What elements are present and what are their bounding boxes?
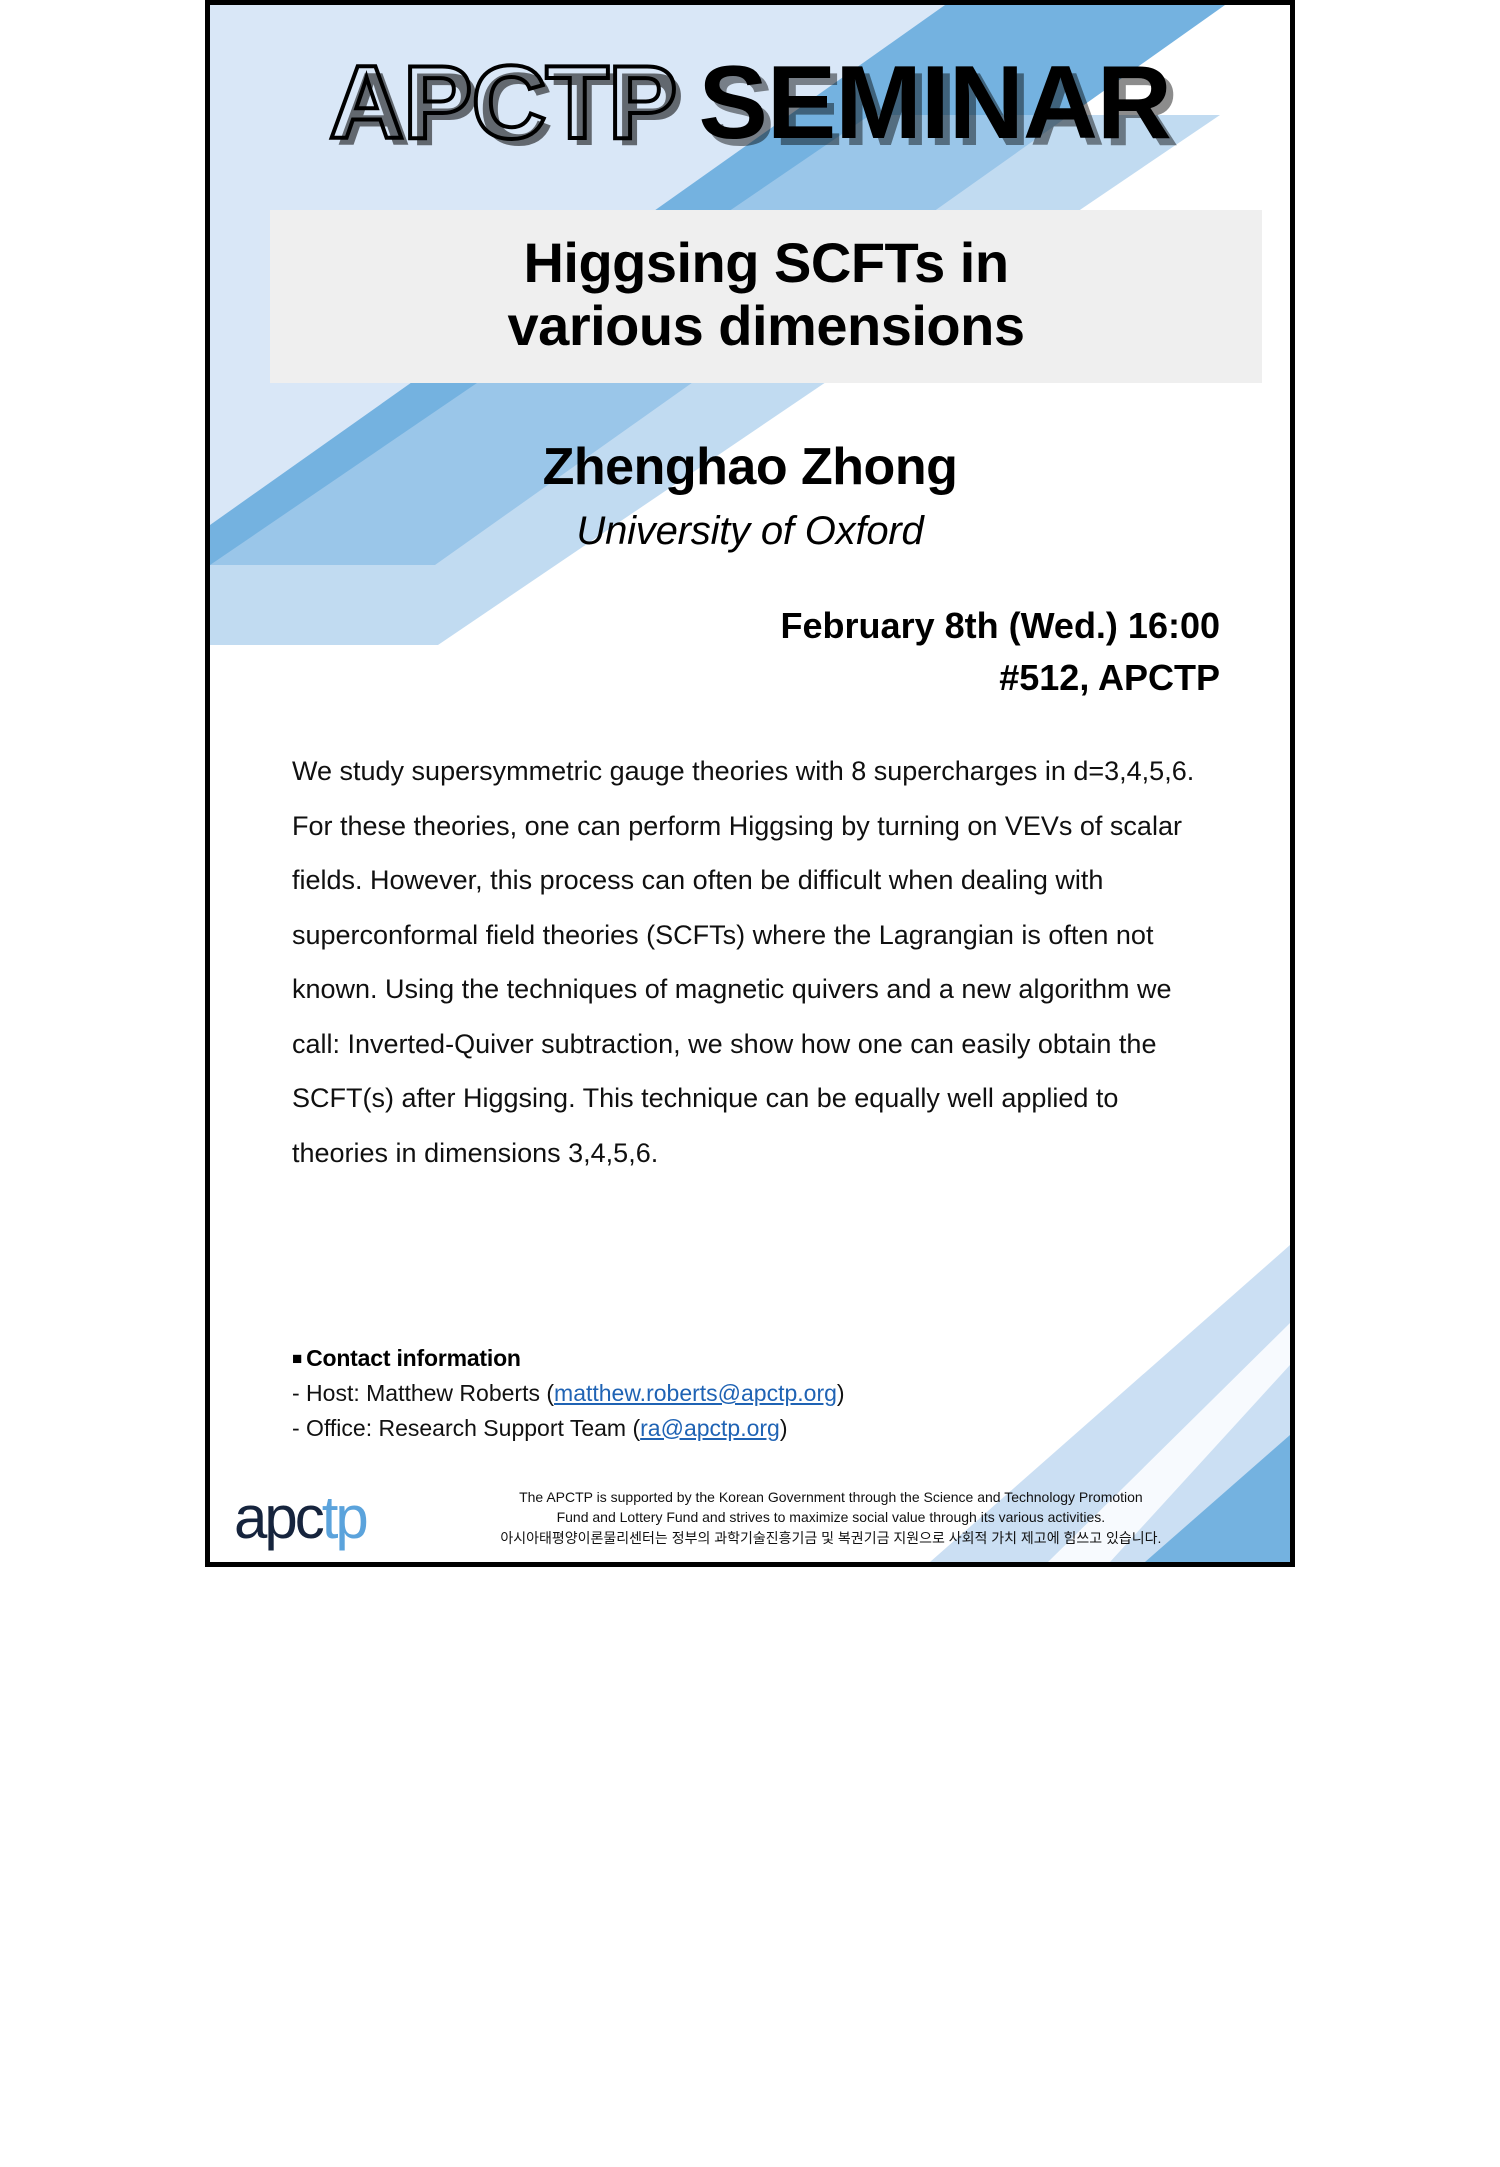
poster-header: APCTP SEMINAR (210, 5, 1290, 155)
contact-host-email-link[interactable]: matthew.roberts@apctp.org (554, 1380, 837, 1406)
speaker-block: Zhenghao Zhong University of Oxford (210, 439, 1290, 553)
event-venue: #512, APCTP (210, 652, 1220, 704)
contact-heading: ■Contact information (292, 1345, 845, 1372)
contact-office-prefix: - Office: Research Support Team ( (292, 1415, 640, 1441)
square-bullet-icon: ■ (292, 1349, 302, 1368)
contact-information: ■Contact information - Host: Matthew Rob… (292, 1345, 845, 1445)
contact-office-email-link[interactable]: ra@apctp.org (640, 1415, 780, 1441)
abstract-text: We study supersymmetric gauge theories w… (292, 744, 1220, 1180)
contact-host-prefix: - Host: Matthew Roberts ( (292, 1380, 554, 1406)
funding-statement-line-3-korean: 아시아태평양이론물리센터는 정부의 과학기술진흥기금 및 복권기금 지원으로 사… (390, 1528, 1272, 1548)
contact-office-suffix: ) (780, 1415, 788, 1441)
contact-host-row: - Host: Matthew Roberts (matthew.roberts… (292, 1376, 845, 1411)
contact-host-suffix: ) (837, 1380, 845, 1406)
apctp-logo: apctp (234, 1488, 366, 1548)
event-details: February 8th (Wed.) 16:00 #512, APCTP (210, 600, 1220, 704)
talk-title-line-2: various dimensions (286, 295, 1246, 358)
brand-apctp: APCTP (329, 51, 676, 155)
poster-footer: apctp The APCTP is supported by the Kore… (210, 1487, 1290, 1548)
brand-seminar: SEMINAR (698, 51, 1171, 155)
funding-statement-line-1: The APCTP is supported by the Korean Gov… (390, 1487, 1272, 1507)
contact-heading-label: Contact information (306, 1345, 521, 1371)
brand-wordmark: APCTP SEMINAR (329, 51, 1171, 155)
event-date-time: February 8th (Wed.) 16:00 (210, 600, 1220, 652)
funding-statement-line-2: Fund and Lottery Fund and strives to max… (390, 1507, 1272, 1527)
seminar-poster: APCTP SEMINAR Higgsing SCFTs in various … (205, 0, 1295, 1567)
speaker-affiliation: University of Oxford (210, 509, 1290, 554)
speaker-name: Zhenghao Zhong (210, 439, 1290, 496)
funding-statement: The APCTP is supported by the Korean Gov… (390, 1487, 1272, 1548)
apctp-logo-light-part: tp (322, 1484, 366, 1551)
talk-title-band: Higgsing SCFTs in various dimensions (270, 210, 1262, 383)
talk-title-line-1: Higgsing SCFTs in (286, 232, 1246, 295)
apctp-logo-dark-part: apc (234, 1484, 322, 1551)
contact-office-row: - Office: Research Support Team (ra@apct… (292, 1411, 845, 1446)
